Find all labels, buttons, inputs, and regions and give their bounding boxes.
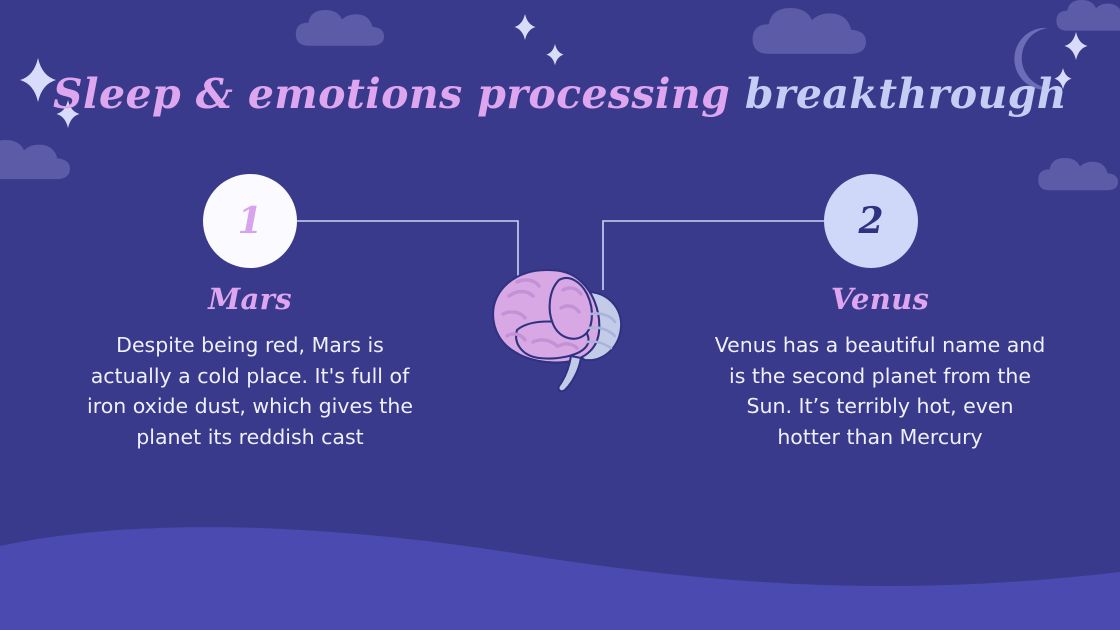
connector-line-left (297, 221, 518, 290)
column-left-heading: Mars (70, 282, 430, 316)
slide-canvas: Sleep & emotions processing breakthrough… (0, 0, 1120, 630)
connector-line-right (603, 221, 824, 290)
brain-illustration-icon (487, 256, 635, 396)
content-column-right: Venus Venus has a beautiful name and is … (700, 282, 1060, 452)
step-badge-2[interactable]: 2 (824, 174, 918, 268)
column-right-heading: Venus (700, 282, 1060, 316)
step-badge-1[interactable]: 1 (203, 174, 297, 268)
content-column-left: Mars Despite being red, Mars is actually… (70, 282, 430, 452)
column-right-body: Venus has a beautiful name and is the se… (700, 330, 1060, 452)
column-left-body: Despite being red, Mars is actually a co… (70, 330, 430, 452)
step-badge-1-number: 1 (237, 203, 262, 239)
step-badge-2-number: 2 (858, 203, 883, 239)
